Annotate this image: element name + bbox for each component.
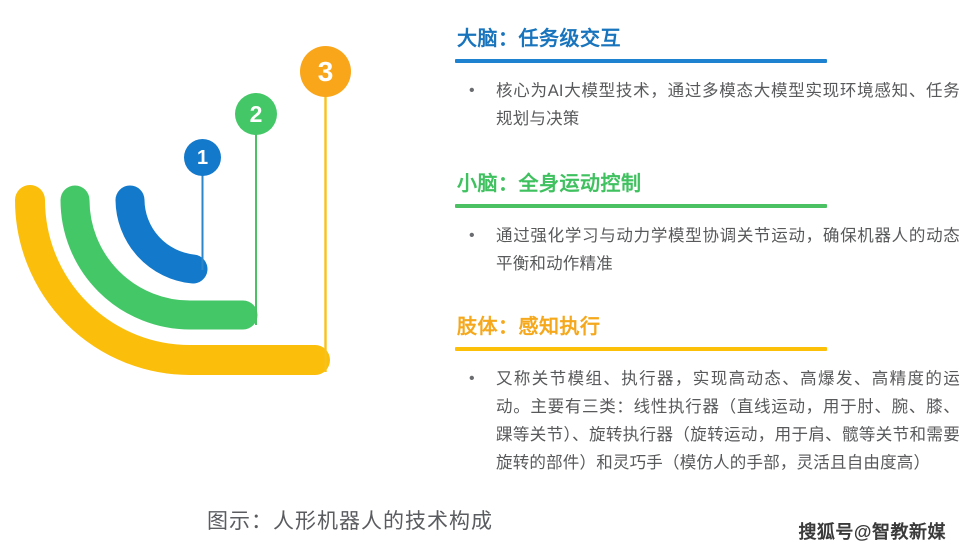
arc-badge-2[interactable]: 2 <box>235 93 277 135</box>
arc-badge-2-label: 2 <box>250 103 263 126</box>
section-limbs-rule <box>455 347 827 351</box>
figure-caption: 图示：人形机器人的技术构成 <box>0 505 700 535</box>
content-panel: 大脑：任务级交互 • 核心为AI大模型技术，通过多模态大模型实现环境感知、任务规… <box>455 0 960 500</box>
concentric-arcs-graphic <box>0 0 440 500</box>
section-brain-title: 大脑：任务级交互 <box>457 22 960 51</box>
section-limbs-body: 又称关节模组、执行器，实现高动态、高爆发、高精度的运动。主要有三类：线性执行器（… <box>496 365 960 477</box>
section-limbs-bullet: • 又称关节模组、执行器，实现高动态、高爆发、高精度的运动。主要有三类：线性执行… <box>455 365 960 477</box>
arc-badge-1-label: 1 <box>197 148 208 168</box>
bullet-marker-icon: • <box>469 365 496 477</box>
section-brain: 大脑：任务级交互 • 核心为AI大模型技术，通过多模态大模型实现环境感知、任务规… <box>455 22 960 133</box>
section-limbs: 肢体：感知执行 • 又称关节模组、执行器，实现高动态、高爆发、高精度的运动。主要… <box>455 310 960 477</box>
section-brain-bullet: • 核心为AI大模型技术，通过多模态大模型实现环境感知、任务规划与决策 <box>455 77 960 133</box>
arc-badge-1[interactable]: 1 <box>184 139 221 176</box>
bullet-marker-icon: • <box>469 77 496 133</box>
section-cerebellum-rule <box>455 204 827 208</box>
section-limbs-title: 肢体：感知执行 <box>457 310 960 339</box>
section-brain-rule <box>455 59 827 63</box>
section-cerebellum-body: 通过强化学习与动力学模型协调关节运动，确保机器人的动态平衡和动作精准 <box>496 222 960 278</box>
bullet-marker-icon: • <box>469 222 496 278</box>
diagram-panel: 1 2 3 <box>0 0 440 500</box>
section-cerebellum-bullet: • 通过强化学习与动力学模型协调关节运动，确保机器人的动态平衡和动作精准 <box>455 222 960 278</box>
watermark: 搜狐号@智教新媒 <box>798 518 946 544</box>
section-cerebellum-title: 小脑：全身运动控制 <box>457 167 960 196</box>
arc-badge-3[interactable]: 3 <box>300 46 351 97</box>
section-cerebellum: 小脑：全身运动控制 • 通过强化学习与动力学模型协调关节运动，确保机器人的动态平… <box>455 167 960 278</box>
arc-inner-blue <box>130 200 193 269</box>
section-brain-body: 核心为AI大模型技术，通过多模态大模型实现环境感知、任务规划与决策 <box>496 77 960 133</box>
arc-badge-3-label: 3 <box>318 58 334 86</box>
